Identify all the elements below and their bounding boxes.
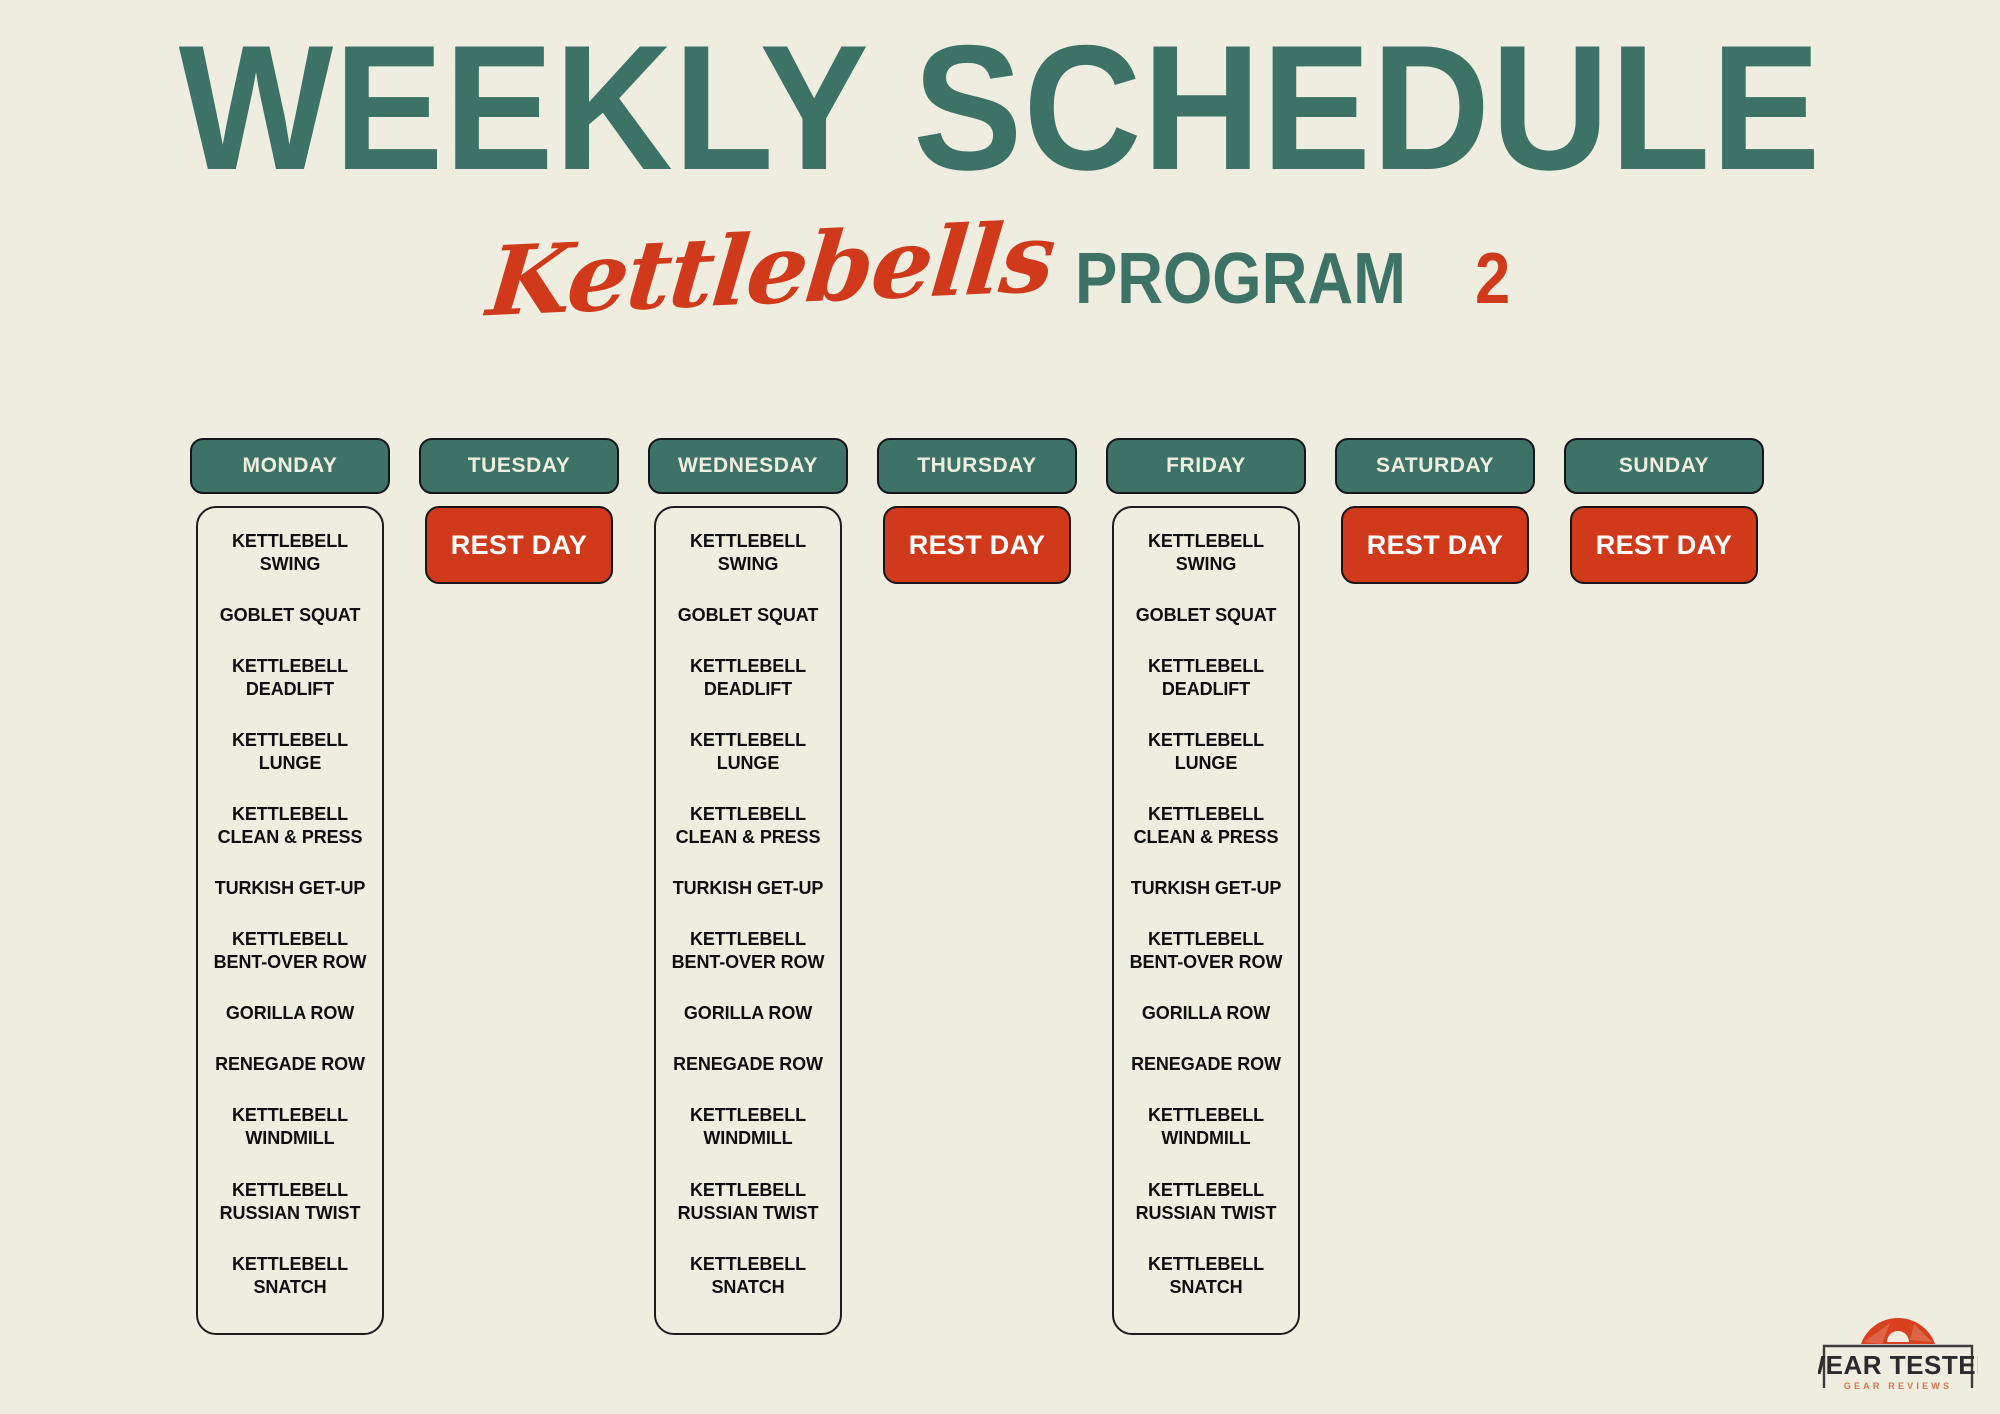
exercise-item: KETTLEBELL CLEAN & PRESS (1124, 803, 1288, 849)
exercise-item: KETTLEBELL SNATCH (1124, 1253, 1288, 1299)
day-column-thursday: THURSDAYREST DAY (877, 438, 1077, 584)
day-body: KETTLEBELL SWINGGOBLET SQUATKETTLEBELL D… (1106, 506, 1306, 1335)
exercise-item: TURKISH GET-UP (208, 877, 372, 900)
day-body: REST DAY (419, 506, 619, 584)
exercise-item: RENEGADE ROW (208, 1053, 372, 1076)
day-header-sunday[interactable]: SUNDAY (1564, 438, 1764, 494)
subtitle-row: Kettlebells PROGRAM 2 (0, 222, 2000, 318)
exercise-item: KETTLEBELL BENT-OVER ROW (666, 928, 830, 974)
program-label: PROGRAM (1075, 243, 1406, 315)
day-column-sunday: SUNDAYREST DAY (1564, 438, 1764, 584)
logo-wordmark: WEAR TESTED (1818, 1350, 1978, 1380)
day-body: REST DAY (1564, 506, 1764, 584)
exercise-item: KETTLEBELL RUSSIAN TWIST (208, 1179, 372, 1225)
exercise-item: KETTLEBELL DEADLIFT (208, 655, 372, 701)
day-column-wednesday: WEDNESDAYKETTLEBELL SWINGGOBLET SQUATKET… (648, 438, 848, 1335)
logo-svg: WEAR TESTED GEAR REVIEWS (1818, 1296, 1978, 1400)
exercise-item: KETTLEBELL DEADLIFT (1124, 655, 1288, 701)
day-body: REST DAY (877, 506, 1077, 584)
logo-tagline: GEAR REVIEWS (1844, 1381, 1952, 1391)
exercise-item: RENEGADE ROW (666, 1053, 830, 1076)
exercise-item: KETTLEBELL LUNGE (208, 729, 372, 775)
day-header-monday[interactable]: MONDAY (190, 438, 390, 494)
exercise-item: GOBLET SQUAT (666, 604, 830, 627)
exercise-item: TURKISH GET-UP (1124, 877, 1288, 900)
exercise-item: RENEGADE ROW (1124, 1053, 1288, 1076)
day-column-tuesday: TUESDAYREST DAY (419, 438, 619, 584)
day-column-monday: MONDAYKETTLEBELL SWINGGOBLET SQUATKETTLE… (190, 438, 390, 1335)
exercise-item: KETTLEBELL DEADLIFT (666, 655, 830, 701)
program-script-word: Kettlebells (484, 210, 1058, 330)
day-column-saturday: SATURDAYREST DAY (1335, 438, 1535, 584)
exercise-item: KETTLEBELL BENT-OVER ROW (208, 928, 372, 974)
exercise-item: KETTLEBELL SNATCH (666, 1253, 830, 1299)
day-body: KETTLEBELL SWINGGOBLET SQUATKETTLEBELL D… (648, 506, 848, 1335)
week-grid: MONDAYKETTLEBELL SWINGGOBLET SQUATKETTLE… (190, 438, 1810, 1335)
exercise-card: KETTLEBELL SWINGGOBLET SQUATKETTLEBELL D… (1112, 506, 1300, 1335)
exercise-item: KETTLEBELL SWING (1124, 530, 1288, 576)
exercise-item: KETTLEBELL WINDMILL (208, 1104, 372, 1150)
day-header-friday[interactable]: FRIDAY (1106, 438, 1306, 494)
exercise-item: KETTLEBELL LUNGE (1124, 729, 1288, 775)
weekly-schedule-poster: WEEKLY SCHEDULE Kettlebells PROGRAM 2 MO… (0, 0, 2000, 1414)
exercise-item: KETTLEBELL RUSSIAN TWIST (666, 1179, 830, 1225)
wear-tested-logo: WEAR TESTED GEAR REVIEWS (1818, 1296, 1978, 1400)
day-header-wednesday[interactable]: WEDNESDAY (648, 438, 848, 494)
day-header-thursday[interactable]: THURSDAY (877, 438, 1077, 494)
rest-day-badge[interactable]: REST DAY (425, 506, 613, 584)
day-header-saturday[interactable]: SATURDAY (1335, 438, 1535, 494)
rest-day-badge[interactable]: REST DAY (1570, 506, 1758, 584)
exercise-item: KETTLEBELL CLEAN & PRESS (208, 803, 372, 849)
exercise-item: GOBLET SQUAT (208, 604, 372, 627)
day-column-friday: FRIDAYKETTLEBELL SWINGGOBLET SQUATKETTLE… (1106, 438, 1306, 1335)
exercise-item: KETTLEBELL RUSSIAN TWIST (1124, 1179, 1288, 1225)
exercise-item: GORILLA ROW (1124, 1002, 1288, 1025)
day-header-tuesday[interactable]: TUESDAY (419, 438, 619, 494)
day-body: KETTLEBELL SWINGGOBLET SQUATKETTLEBELL D… (190, 506, 390, 1335)
exercise-item: KETTLEBELL SWING (208, 530, 372, 576)
exercise-item: KETTLEBELL SNATCH (208, 1253, 372, 1299)
exercise-card: KETTLEBELL SWINGGOBLET SQUATKETTLEBELL D… (654, 506, 842, 1335)
exercise-item: GORILLA ROW (666, 1002, 830, 1025)
exercise-item: KETTLEBELL CLEAN & PRESS (666, 803, 830, 849)
exercise-item: KETTLEBELL LUNGE (666, 729, 830, 775)
program-number: 2 (1475, 243, 1510, 315)
exercise-item: TURKISH GET-UP (666, 877, 830, 900)
exercise-item: GOBLET SQUAT (1124, 604, 1288, 627)
exercise-item: GORILLA ROW (208, 1002, 372, 1025)
rest-day-badge[interactable]: REST DAY (883, 506, 1071, 584)
exercise-item: KETTLEBELL SWING (666, 530, 830, 576)
poster-header: WEEKLY SCHEDULE Kettlebells PROGRAM 2 (0, 0, 2000, 400)
exercise-item: KETTLEBELL BENT-OVER ROW (1124, 928, 1288, 974)
exercise-item: KETTLEBELL WINDMILL (1124, 1104, 1288, 1150)
page-title: WEEKLY SCHEDULE (80, 26, 1920, 190)
rest-day-badge[interactable]: REST DAY (1341, 506, 1529, 584)
exercise-item: KETTLEBELL WINDMILL (666, 1104, 830, 1150)
day-body: REST DAY (1335, 506, 1535, 584)
aperture-icon (1861, 1318, 1935, 1344)
exercise-card: KETTLEBELL SWINGGOBLET SQUATKETTLEBELL D… (196, 506, 384, 1335)
